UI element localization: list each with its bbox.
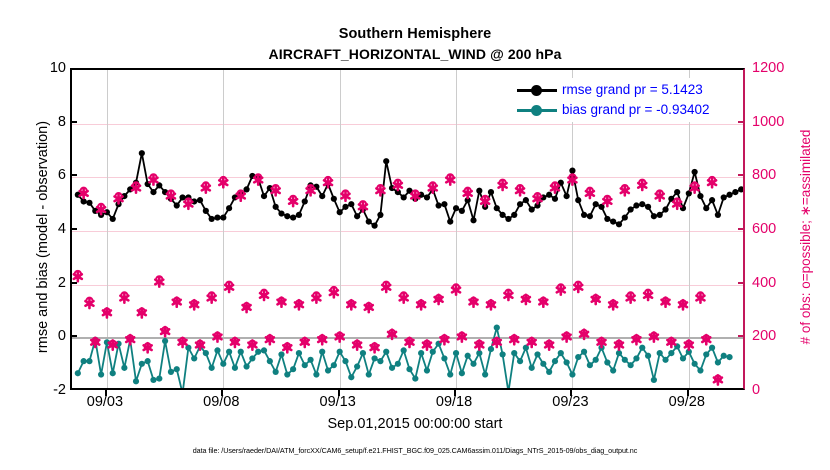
data-point-marker — [511, 212, 517, 218]
data-point-marker — [581, 349, 587, 355]
y-axis-left-tick-label: 2 — [58, 275, 66, 291]
y-axis-right-tick-mark — [738, 228, 745, 230]
data-point-marker — [226, 349, 232, 355]
data-point-marker — [529, 206, 535, 212]
data-point-marker — [633, 355, 639, 361]
data-point-marker — [628, 362, 634, 368]
data-point-marker — [296, 350, 302, 356]
data-point-marker — [476, 188, 482, 194]
y-axis-right-tick-mark — [738, 121, 745, 123]
data-point-marker — [569, 371, 575, 377]
data-point-marker — [616, 221, 622, 227]
y-axis-left-tick-label: 0 — [58, 328, 66, 344]
data-point-marker — [98, 371, 104, 377]
y-axis-left-tick-mark — [70, 228, 77, 230]
data-point-marker — [261, 193, 267, 199]
y-axis-left-tick-mark — [70, 121, 77, 123]
data-point-marker — [587, 362, 593, 368]
data-point-marker — [389, 365, 395, 371]
data-point-marker — [505, 216, 511, 222]
data-point-marker — [319, 349, 325, 355]
y-axis-left-tick-mark — [70, 335, 77, 337]
data-point-marker — [75, 370, 81, 376]
data-point-marker — [639, 345, 645, 351]
data-point-marker — [371, 355, 377, 361]
data-point-marker — [552, 196, 558, 202]
data-point-marker — [133, 378, 139, 384]
data-point-marker — [156, 375, 162, 381]
data-point-marker — [331, 196, 337, 202]
data-point-marker — [517, 201, 523, 207]
y-axis-right-tick-label: 1000 — [752, 114, 784, 130]
data-point-marker — [441, 355, 447, 361]
data-point-marker — [703, 351, 709, 357]
legend-item-rmse: rmse grand pr = 5.1423 — [517, 80, 709, 100]
data-point-marker — [546, 192, 552, 198]
data-point-marker — [500, 351, 506, 357]
data-point-marker — [645, 204, 651, 210]
y-axis-right-tick-label: 800 — [752, 167, 776, 183]
data-point-marker — [692, 361, 698, 367]
data-point-marker — [366, 219, 372, 225]
data-point-marker — [273, 369, 279, 375]
data-point-marker — [302, 198, 308, 204]
y-axis-right-label: # of obs: o=possible; ∗=assimilated — [798, 72, 814, 402]
data-point-marker — [569, 168, 575, 174]
data-point-marker — [284, 213, 290, 219]
data-point-marker — [197, 197, 203, 203]
data-point-marker — [692, 169, 698, 175]
data-point-marker — [412, 375, 418, 381]
x-axis-label: Sep.01,2015 00:00:00 start — [0, 416, 830, 432]
data-point-marker — [564, 193, 570, 199]
data-point-marker — [150, 189, 156, 195]
x-axis-tick-mark — [105, 390, 107, 396]
data-point-marker — [633, 202, 639, 208]
data-point-marker — [377, 358, 383, 364]
data-point-marker — [657, 212, 663, 218]
data-point-marker — [214, 347, 220, 353]
series-2 — [75, 325, 733, 389]
y-axis-left-tick-label: 4 — [58, 221, 66, 237]
data-point-marker — [697, 367, 703, 373]
data-point-marker — [581, 212, 587, 218]
data-point-marker — [284, 371, 290, 377]
data-point-marker — [564, 359, 570, 365]
data-point-marker — [721, 353, 727, 359]
data-point-marker — [424, 194, 430, 200]
data-point-marker — [593, 357, 599, 363]
data-point-marker — [406, 366, 412, 372]
data-point-marker — [558, 350, 564, 356]
legend-label-rmse: rmse grand pr = 5.1423 — [562, 80, 703, 100]
data-point-marker — [610, 367, 616, 373]
legend-label-bias: bias grand pr = -0.93402 — [562, 100, 709, 120]
data-point-marker — [86, 358, 92, 364]
data-point-marker — [371, 223, 377, 229]
data-point-marker — [383, 349, 389, 355]
series-4 — [74, 175, 722, 384]
data-point-marker — [243, 363, 249, 369]
data-point-marker — [540, 361, 546, 367]
data-point-marker — [604, 216, 610, 222]
data-point-marker — [738, 186, 743, 192]
data-point-marker — [470, 361, 476, 367]
chart-legend: rmse grand pr = 5.1423 bias grand pr = -… — [514, 78, 713, 122]
data-point-marker — [488, 189, 494, 195]
data-point-marker — [121, 365, 127, 371]
data-point-marker — [622, 214, 628, 220]
data-point-marker — [529, 365, 535, 371]
y-axis-left-tick-label: -2 — [53, 382, 66, 398]
legend-marker — [531, 85, 542, 96]
data-point-marker — [546, 369, 552, 375]
data-point-marker — [203, 350, 209, 356]
data-point-marker — [726, 192, 732, 198]
data-point-marker — [732, 189, 738, 195]
x-axis-tick-label: 09/28 — [669, 394, 705, 410]
data-point-marker — [511, 350, 517, 356]
data-point-marker — [715, 212, 721, 218]
data-point-marker — [453, 350, 459, 356]
data-point-marker — [628, 206, 634, 212]
data-point-marker — [470, 217, 476, 223]
data-point-marker — [174, 366, 180, 372]
data-point-marker — [110, 370, 116, 376]
data-point-marker — [575, 354, 581, 360]
y-axis-right-tick-mark — [738, 174, 745, 176]
data-point-marker — [401, 194, 407, 200]
data-point-marker — [81, 358, 87, 364]
data-point-marker — [721, 194, 727, 200]
data-point-marker — [662, 357, 668, 363]
data-point-marker — [500, 212, 506, 218]
data-point-marker — [587, 213, 593, 219]
data-point-marker — [203, 208, 209, 214]
data-point-marker — [150, 377, 156, 383]
y-axis-left-label: rmse and bias (model - observation) — [35, 72, 51, 402]
data-point-marker — [313, 371, 319, 377]
x-axis-tick-label: 09/23 — [552, 394, 588, 410]
data-point-marker — [697, 193, 703, 199]
data-point-marker — [430, 349, 436, 355]
data-point-marker — [657, 350, 663, 356]
data-point-marker — [366, 371, 372, 377]
data-point-marker — [651, 377, 657, 383]
data-point-marker — [302, 362, 308, 368]
data-point-marker — [494, 205, 500, 211]
data-point-marker — [651, 213, 657, 219]
data-point-marker — [377, 212, 383, 218]
data-point-marker — [680, 355, 686, 361]
data-point-marker — [238, 349, 244, 355]
data-point-marker — [703, 205, 709, 211]
title-line-1: Southern Hemisphere — [0, 24, 830, 44]
data-point-marker — [220, 214, 226, 220]
data-point-marker — [534, 351, 540, 357]
data-point-marker — [662, 206, 668, 212]
data-point-marker — [441, 201, 447, 207]
data-point-marker — [488, 346, 494, 352]
data-point-marker — [360, 350, 366, 356]
data-point-marker — [482, 371, 488, 377]
y-axis-right-tick-label: 1200 — [752, 60, 784, 76]
data-point-marker — [307, 357, 313, 363]
data-point-marker — [610, 219, 616, 225]
data-point-marker — [168, 369, 174, 375]
data-point-marker — [622, 357, 628, 363]
y-axis-left-tick-mark — [70, 174, 77, 176]
data-point-marker — [319, 193, 325, 199]
data-point-marker — [273, 204, 279, 210]
y-axis-right-tick-label: 600 — [752, 221, 776, 237]
data-point-marker — [517, 358, 523, 364]
y-axis-left-tick-label: 10 — [50, 60, 66, 76]
y-axis-right-tick-mark — [738, 335, 745, 337]
legend-swatch-rmse — [517, 83, 557, 97]
data-point-marker — [348, 374, 354, 380]
data-point-marker — [337, 349, 343, 355]
data-point-marker — [709, 345, 715, 351]
figure-root: Southern Hemisphere AIRCRAFT_HORIZONTAL_… — [0, 0, 830, 470]
series-3 — [75, 174, 721, 381]
data-point-marker — [191, 355, 197, 361]
data-point-marker — [232, 365, 238, 371]
data-point-marker — [715, 359, 721, 365]
x-axis-tick-mark — [570, 390, 572, 396]
data-point-marker — [575, 197, 581, 203]
data-point-marker — [674, 189, 680, 195]
data-point-marker — [278, 210, 284, 216]
y-axis-right-tick-label: 0 — [752, 382, 760, 398]
data-point-marker — [348, 201, 354, 207]
y-axis-right-tick-label: 400 — [752, 275, 776, 291]
data-point-marker — [342, 358, 348, 364]
data-point-marker — [552, 358, 558, 364]
data-point-marker — [162, 338, 168, 344]
x-axis-tick-mark — [338, 390, 340, 396]
data-point-marker — [249, 355, 255, 361]
title-line-2: AIRCRAFT_HORIZONTAL_WIND @ 200 hPa — [0, 44, 830, 64]
data-point-marker — [459, 208, 465, 214]
data-point-marker — [639, 201, 645, 207]
data-point-marker — [174, 202, 180, 208]
data-point-marker — [139, 150, 145, 156]
data-point-marker — [296, 212, 302, 218]
data-point-marker — [325, 367, 331, 373]
data-point-marker — [139, 361, 145, 367]
data-point-marker — [290, 214, 296, 220]
y-axis-right-tick-label: 200 — [752, 328, 776, 344]
data-point-marker — [668, 350, 674, 356]
data-point-marker — [523, 197, 529, 203]
data-point-marker — [726, 354, 732, 360]
data-point-marker — [593, 201, 599, 207]
data-point-marker — [459, 370, 465, 376]
data-point-marker — [226, 205, 232, 211]
data-point-marker — [383, 158, 389, 164]
y-axis-right-tick-mark — [738, 282, 745, 284]
data-point-marker — [290, 366, 296, 372]
data-point-marker — [331, 362, 337, 368]
legend-item-bias: bias grand pr = -0.93402 — [517, 100, 709, 120]
data-point-marker — [453, 205, 459, 211]
data-point-marker — [604, 359, 610, 365]
y-axis-left-tick-label: 6 — [58, 167, 66, 183]
data-point-marker — [435, 202, 441, 208]
data-point-marker — [494, 325, 500, 331]
x-axis-tick-label: 09/03 — [87, 394, 123, 410]
data-point-marker — [354, 213, 360, 219]
data-point-marker — [267, 358, 273, 364]
y-axis-left-tick-label: 8 — [58, 114, 66, 130]
data-point-marker — [110, 216, 116, 222]
y-axis-left-tick-mark — [70, 282, 77, 284]
data-point-marker — [395, 361, 401, 367]
data-point-marker — [220, 361, 226, 367]
x-axis-tick-mark — [221, 390, 223, 396]
data-point-marker — [424, 367, 430, 373]
data-point-marker — [447, 219, 453, 225]
data-point-marker — [401, 347, 407, 353]
x-axis-tick-mark — [454, 390, 456, 396]
data-point-marker — [278, 351, 284, 357]
x-axis-tick-label: 09/18 — [436, 394, 472, 410]
data-point-marker — [209, 216, 215, 222]
data-point-marker — [418, 350, 424, 356]
chart-title: Southern Hemisphere AIRCRAFT_HORIZONTAL_… — [0, 24, 830, 64]
data-point-marker — [209, 365, 215, 371]
data-point-marker — [337, 209, 343, 215]
x-axis-tick-label: 09/08 — [203, 394, 239, 410]
data-point-marker — [709, 197, 715, 203]
x-axis-tick-label: 09/13 — [320, 394, 356, 410]
legend-marker — [531, 105, 542, 116]
data-point-marker — [145, 358, 151, 364]
data-point-marker — [465, 353, 471, 359]
legend-swatch-bias — [517, 103, 557, 117]
x-axis-tick-mark — [687, 390, 689, 396]
data-point-marker — [342, 204, 348, 210]
data-point-marker — [645, 353, 651, 359]
data-point-marker — [354, 363, 360, 369]
data-point-marker — [86, 200, 92, 206]
data-point-marker — [447, 371, 453, 377]
data-point-marker — [261, 347, 267, 353]
data-file-caption: data file: /Users/raeder/DAI/ATM_forcXX/… — [0, 446, 830, 455]
data-point-marker — [214, 214, 220, 220]
data-point-marker — [255, 349, 261, 355]
